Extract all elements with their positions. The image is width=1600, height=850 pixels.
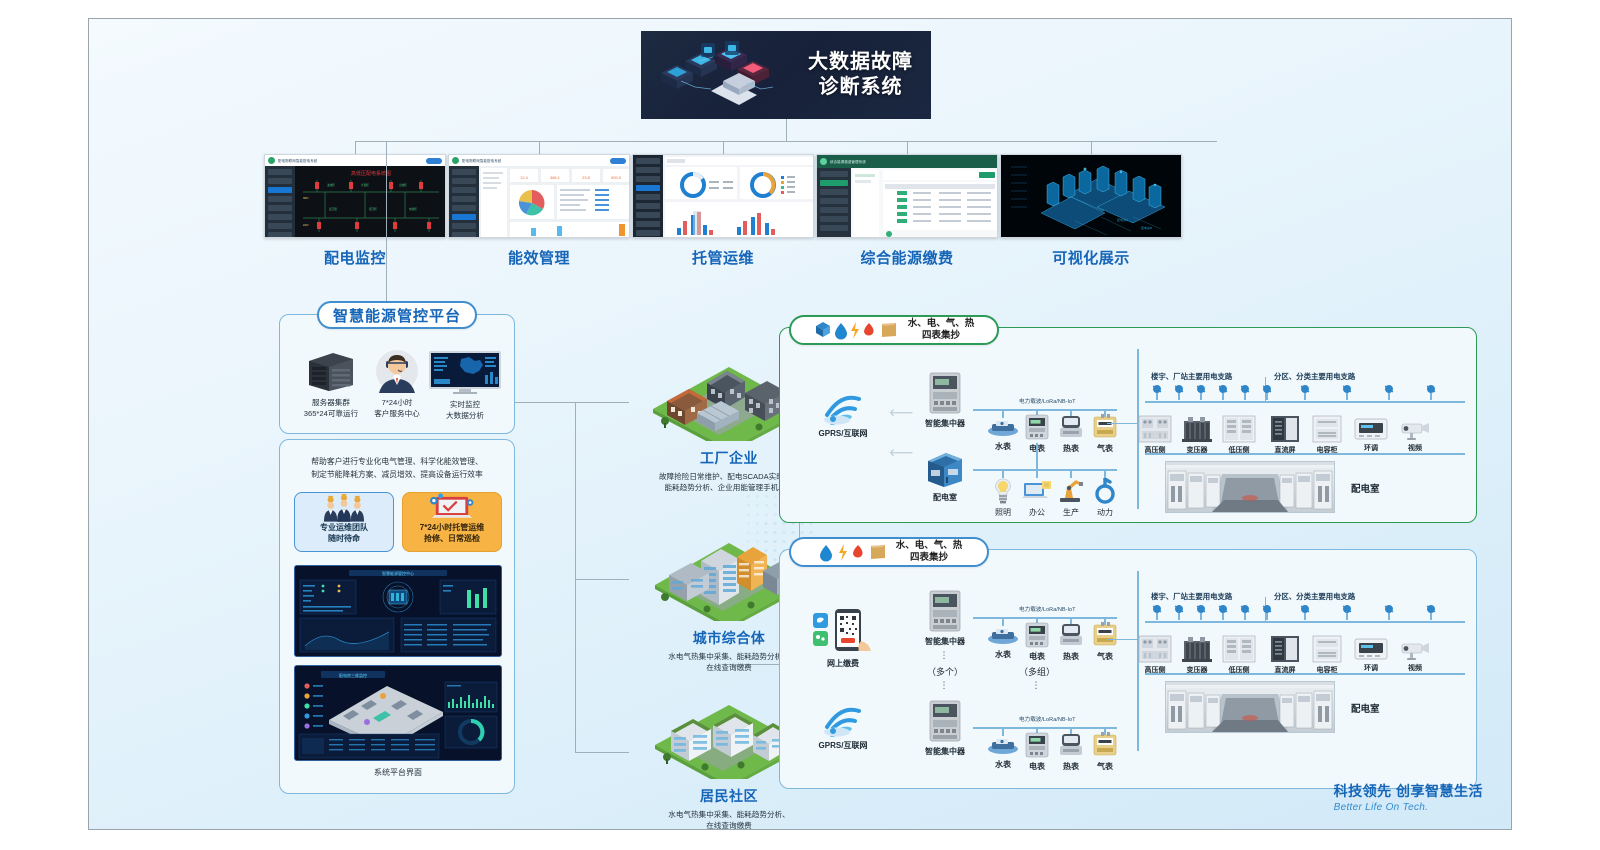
meter-top-concentrator: 智能集中器 (913, 371, 977, 429)
meter-top-equip-dc: 直流屏 (1265, 415, 1305, 455)
meter-top-concentrator-label: 智能集中器 (913, 418, 977, 429)
svg-text:386.1: 386.1 (550, 175, 561, 180)
meter-header-icons-bottom (816, 542, 890, 562)
flame-icon (864, 323, 874, 335)
platform-item-monitor-caption: 实时监控大数据分析 (419, 400, 511, 421)
connector-thumb-4 (907, 141, 908, 154)
meter-bottom-equip-transformer-label: 变压器 (1177, 665, 1217, 675)
meter-bottom-source: GPRS/互联网 (801, 697, 885, 751)
screenshot-nengxiao-guanli[interactable]: 配电物联网智能配电系统 12.4 386.1 (448, 154, 630, 238)
power-icon (1094, 478, 1116, 504)
scene-branch-city (575, 579, 629, 580)
meter-bottom-concentrator-bottom: 智能集中器 (913, 699, 977, 757)
thumb-header-title: 配电物联网智能配电系统 (278, 158, 318, 163)
connector-banner-down (786, 119, 787, 141)
thumb-sidebar (449, 166, 479, 237)
transformer-icon (1180, 635, 1214, 663)
meter-top-equip-transformer-label: 变压器 (1177, 445, 1217, 455)
meter-bottom-equip-capacitor: 电容柜 (1307, 635, 1347, 675)
thumbnail-block-5[interactable]: 配电房A 配电房B 可视化展示 (1000, 154, 1182, 268)
meter-bottom-u-gas: 气表 (1084, 622, 1126, 662)
thumbnail-block-3[interactable]: 托管运维 (632, 154, 814, 268)
meter-top-equip-capacitor: 电容柜 (1307, 415, 1347, 455)
thumb-topbar: 综合能源缴费管理系统 (817, 155, 997, 168)
meter-bottom-bus-label-lower: 电力载波/LoRa/NB-IoT (1019, 715, 1076, 723)
meter-top-load-drop-1 (1002, 469, 1004, 478)
scene-spine-from-panel (515, 402, 575, 403)
service-desc-line2: 制定节能降耗方案、减员增效、提高设备运行效率 (285, 469, 509, 482)
svg-text:220V: 220V (303, 224, 309, 227)
thumbnail-label-1: 配电监控 (264, 247, 446, 268)
connector-thumb-3 (723, 141, 724, 154)
thumb-sidebar (265, 166, 295, 237)
meter-bottom-bus-label-upper: 电力载波/LoRa/NB-IoT (1019, 605, 1076, 613)
building-icon (816, 322, 830, 337)
mobile-payment-icon (811, 607, 875, 655)
meter-bottom-equip-camera: 视频 (1395, 639, 1435, 673)
electric-meter-icon (1024, 732, 1050, 758)
connector-thumb-5 (1091, 141, 1092, 154)
meter-top-meter-gas: 气表 (1084, 414, 1126, 454)
meter-top-meter-gas-label: 气表 (1084, 443, 1126, 454)
meter-top-source: GPRS/互联网 (801, 385, 885, 439)
svg-text:变压器: 变压器 (329, 207, 337, 211)
meter-bottom-breaker-row (1145, 601, 1465, 623)
scene-branch-community (575, 752, 629, 753)
scene-community-title: 居民社区 (641, 786, 817, 806)
gas-meter-icon (1092, 732, 1118, 758)
team-icon (316, 493, 372, 522)
svg-text:智慧能源管控中心: 智慧能源管控中心 (382, 570, 414, 576)
meter-top-equip-camera-label: 视频 (1395, 443, 1435, 453)
thumb-logo-icon (268, 157, 275, 164)
thumb-logo-icon (452, 157, 459, 164)
scene-community-desc: 水电气热集中采集、能耗趋势分析、在线查询缴费 (641, 809, 817, 830)
svg-text:配电房三维监控: 配电房三维监控 (339, 672, 367, 678)
arrow-concentrator-to-source: ⟵ (889, 404, 913, 421)
scene-spine-vertical (575, 402, 576, 752)
thumb-topbar-right (610, 158, 626, 164)
heat-meter-icon (1058, 732, 1084, 758)
meter-bottom-bus-lower (973, 727, 1117, 729)
thumb-content-ops-dashboard (663, 155, 813, 237)
screenshot-keshihua-zhanshi[interactable]: 配电房A 配电房B (1000, 154, 1182, 238)
meter-bottom-equip-lv-label: 低压侧 (1219, 665, 1259, 675)
monitor-screen-icon (427, 349, 503, 395)
production-icon (1058, 478, 1084, 504)
hv-cabinet-icon (1138, 415, 1172, 443)
electric-bolt-icon (851, 322, 859, 339)
banner-title: 大数据故障 诊断系统 (808, 50, 913, 100)
meter-bottom-bus-upper (973, 617, 1117, 619)
meter-bottom-equip-capacitor-label: 电容柜 (1307, 665, 1347, 675)
heat-meter-icon (1058, 622, 1084, 648)
meter-panel-top-title: 水、电、气、热四表集抄 (908, 318, 975, 342)
platform-screenshot-1[interactable]: 智慧能源管控中心 (294, 565, 502, 657)
svg-text:高低压配电系统图: 高低压配电系统图 (351, 170, 391, 177)
heat-icon (871, 545, 885, 559)
meter-bottom-multi-left: （多个） (911, 665, 979, 678)
meter-bottom-room-photo (1165, 681, 1335, 733)
lv-cabinet-icon (1222, 415, 1256, 443)
meter-top-load-power: 动力 (1084, 478, 1126, 518)
transformer-icon (1180, 415, 1214, 443)
platform-screens-caption: 系统平台界面 (294, 767, 502, 778)
meter-top-substation: 配电室 (913, 451, 977, 503)
meter-top-equip-hv: 高压侧 (1135, 415, 1175, 455)
heat-icon (882, 323, 896, 337)
gas-meter-icon (1092, 622, 1118, 648)
meter-bottom-pay: 网上缴费 (801, 607, 885, 669)
meter-bottom-equip-hvac: 环调 (1351, 637, 1391, 673)
thumbnail-block-1[interactable]: 配电物联网智能配电系统 高低压配电系统图 (264, 154, 446, 268)
thumb-header-title: 配电物联网智能配电系统 (462, 158, 502, 163)
lv-cabinet-icon (1222, 635, 1256, 663)
platform-item-monitor: 实时监控大数据分析 (419, 349, 511, 421)
meter-bottom-source-label: GPRS/互联网 (801, 740, 885, 751)
meter-bottom-equip-transformer: 变压器 (1177, 635, 1217, 675)
meter-top-equip-dc-label: 直流屏 (1265, 445, 1305, 455)
meter-bottom-drop-l1 (1002, 727, 1004, 736)
meter-top-equip-camera: 视频 (1395, 419, 1435, 453)
dc-panel-icon (1270, 415, 1300, 443)
service-desc-line1: 帮助客户进行专业化电气管理、科学化能效管理、 (285, 456, 509, 469)
big-data-servers-illustration (655, 41, 805, 109)
water-meter-icon (986, 418, 1020, 438)
meter-top-bus-meters (973, 409, 1117, 411)
smart-concentrator-icon (928, 371, 962, 415)
electric-bolt-icon (839, 544, 847, 561)
svg-text:23.8: 23.8 (582, 175, 591, 180)
lighting-icon (993, 478, 1013, 504)
meter-panel-top-header: 水、电、气、热四表集抄 (789, 315, 999, 345)
service-badge-team[interactable]: 专业运维团队随时待命 (294, 492, 394, 552)
laptop-repair-icon (423, 493, 481, 522)
meter-top-equip-hvac-label: 环调 (1351, 443, 1391, 453)
meter-bottom-dots-left-2: ⋮ (929, 681, 961, 689)
meter-bottom-concentrator-top-label: 智能集中器 (913, 636, 977, 647)
heat-meter-icon (1058, 414, 1084, 440)
meter-top-load-drop-2 (1036, 469, 1038, 478)
electric-meter-icon (1024, 414, 1050, 440)
meter-bottom-l-gas-label: 气表 (1084, 761, 1126, 772)
meter-top-equip-capacitor-label: 电容柜 (1307, 445, 1347, 455)
meter-top-drop-1 (1002, 409, 1004, 418)
hv-cabinet-icon (1138, 635, 1172, 663)
wifi-signal-icon (815, 697, 871, 737)
thumbnail-label-2: 能效管理 (448, 247, 630, 268)
svg-text:低压柜: 低压柜 (369, 207, 377, 211)
gas-meter-icon (1092, 414, 1118, 440)
svg-text:配电房B: 配电房B (1141, 225, 1152, 230)
meter-top-breaker-row (1145, 381, 1465, 403)
meter-bottom-u-gas-label: 气表 (1084, 651, 1126, 662)
meter-panel-bottom-title: 水、电、气、热四表集抄 (896, 540, 963, 564)
svg-text:计量柜: 计量柜 (361, 183, 369, 187)
banner-title-line1: 大数据故障 (808, 50, 913, 75)
svg-text:进线柜: 进线柜 (327, 183, 335, 187)
thumbnail-label-3: 托管运维 (632, 247, 814, 268)
thumb-sidebar (633, 155, 663, 237)
meter-panel-bottom-header: 水、电、气、热四表集抄 (789, 537, 989, 567)
connector-banner-to-platform (386, 141, 387, 301)
arrow-substation-to-source: ⟵ (889, 444, 913, 461)
thumb-content-single-line-diagram: 高低压配电系统图 (295, 166, 445, 237)
water-drop-icon (835, 323, 847, 340)
capacitor-cabinet-icon (1312, 635, 1342, 663)
platform-title: 智慧能源管控平台 (333, 305, 461, 326)
meter-bottom-dots-right-2: ⋮ (1021, 681, 1053, 689)
wifi-signal-icon (815, 385, 871, 425)
meter-top-equip-transformer: 变压器 (1177, 415, 1217, 455)
water-meter-icon (986, 626, 1020, 646)
thumb-logo-icon (820, 158, 827, 165)
meter-top-equip-lv: 低压侧 (1219, 415, 1259, 455)
meter-top-equip-lv-label: 低压侧 (1219, 445, 1259, 455)
scene-branch-factory (575, 402, 629, 403)
meter-bottom-concentrator-top: 智能集中器 (913, 589, 977, 647)
thumb-topbar-right (426, 158, 442, 164)
office-icon (1022, 480, 1052, 504)
thumb-topbar: 配电物联网智能配电系统 (449, 155, 629, 166)
capacitor-cabinet-icon (1312, 415, 1342, 443)
platform-screenshot-2[interactable]: 配电房三维监控 (294, 665, 502, 761)
meter-bottom-equip-hv-label: 高压侧 (1135, 665, 1175, 675)
meter-bottom-drop-u1 (1002, 617, 1004, 626)
tagline-en: Better Life On Tech. (1334, 802, 1483, 813)
meter-bottom-l-gas: 气表 (1084, 732, 1126, 772)
meter-top-load-power-label: 动力 (1084, 507, 1126, 518)
camera-icon (1398, 639, 1432, 661)
distribution-cabinet-icon (922, 451, 968, 489)
svg-text:配电房A: 配电房A (1117, 217, 1128, 222)
meter-bottom-equip-camera-label: 视频 (1395, 663, 1435, 673)
water-drop-icon (820, 545, 832, 562)
meter-bottom-equip-hvac-label: 环调 (1351, 663, 1391, 673)
meter-top-room-photo (1165, 461, 1335, 513)
service-badge-team-caption: 专业运维团队随时待命 (320, 522, 368, 544)
dc-panel-icon (1270, 635, 1300, 663)
meter-bottom-equip-lv: 低压侧 (1219, 635, 1259, 675)
screenshot-tuoguan-yunwei[interactable] (632, 154, 814, 238)
banner-title-line2: 诊断系统 (808, 75, 913, 100)
tagline-cn: 科技领先 创享智慧生活 (1334, 781, 1483, 801)
meter-bottom-equip-dc: 直流屏 (1265, 635, 1305, 675)
meter-top-photo-caption: 配电室 (1351, 481, 1380, 495)
meter-top-load-drop-4 (1104, 469, 1106, 478)
poster-canvas: 大数据故障 诊断系统 配电物联网智能配电系统 高低压配电系统图 (88, 18, 1512, 830)
electric-meter-icon (1024, 622, 1050, 648)
meter-top-loads-riser (1036, 443, 1038, 469)
svg-text:出线柜: 出线柜 (399, 183, 407, 187)
meter-bottom-concentrator-bottom-label: 智能集中器 (913, 746, 977, 757)
thumb-sidebar (817, 168, 851, 237)
thumbnail-block-4[interactable]: 综合能源缴费管理系统 (816, 154, 998, 268)
meter-top-equip-hvac: 环调 (1351, 417, 1391, 453)
screenshot-peidian-jiankong[interactable]: 配电物联网智能配电系统 高低压配电系统图 (264, 154, 446, 238)
thumbnail-label-4: 综合能源缴费 (816, 247, 998, 268)
service-badge-ops[interactable]: 7*24小时托管运维抢修、日常巡检 (402, 492, 502, 552)
flame-icon (853, 545, 863, 557)
tagline: 科技领先 创享智慧生活 Better Life On Tech. (1334, 781, 1483, 813)
meter-bottom-equip-dc-label: 直流屏 (1265, 665, 1305, 675)
meter-header-icons-top (814, 320, 902, 340)
meter-bottom-equip-hv: 高压侧 (1135, 635, 1175, 675)
smart-concentrator-icon (928, 589, 962, 633)
meter-top-equip-hv-label: 高压侧 (1135, 445, 1175, 455)
screenshot-zonghe-nengyuan-jiaofei[interactable]: 综合能源缴费管理系统 (816, 154, 998, 238)
smart-concentrator-icon (928, 699, 962, 743)
svg-text:380V: 380V (303, 197, 309, 200)
service-description: 帮助客户进行专业化电气管理、科学化能效管理、 制定节能降耗方案、减员增效、提高设… (285, 456, 509, 482)
meter-top-substation-label: 配电室 (913, 492, 977, 503)
thumb-content-3d-visualization: 配电房A 配电房B (1001, 155, 1182, 238)
thumb-content-billing-table (851, 168, 997, 237)
support-agent-icon (373, 349, 421, 393)
connector-thumb-1 (355, 141, 356, 154)
meter-bottom-photo-caption: 配电室 (1351, 701, 1380, 715)
hvac-controller-icon (1354, 417, 1388, 441)
meter-bottom-dots-left-1: ⋮ (929, 651, 961, 659)
hvac-controller-icon (1354, 637, 1388, 661)
platform-panel-header: 智慧能源管控平台 (317, 301, 477, 329)
water-meter-icon (986, 736, 1020, 756)
svg-text:12.4: 12.4 (520, 175, 529, 180)
meter-top-load-drop-3 (1070, 469, 1072, 478)
svg-text:909.0: 909.0 (611, 175, 622, 180)
camera-icon (1398, 419, 1432, 441)
connector-thumb-2 (539, 141, 540, 154)
meter-bottom-multi-right: （多组） (1003, 665, 1071, 678)
meter-top-bus-label: 电力载波/LoRa/NB-IoT (1019, 397, 1076, 405)
meter-top-source-label: GPRS/互联网 (801, 428, 885, 439)
thumb-topbar: 配电物联网智能配电系统 (265, 155, 445, 166)
service-badge-ops-caption: 7*24小时托管运维抢修、日常巡检 (420, 522, 484, 544)
connector-thumbs-bus (355, 141, 1217, 142)
main-title-banner: 大数据故障 诊断系统 (641, 31, 931, 119)
thumb-header-title: 综合能源缴费管理系统 (830, 159, 866, 164)
meter-bottom-pay-label: 网上缴费 (801, 658, 885, 669)
thumbnail-block-2[interactable]: 配电物联网智能配电系统 12.4 386.1 (448, 154, 630, 268)
meter-top-bus-loads (973, 469, 1117, 471)
svg-text:电容柜: 电容柜 (409, 207, 417, 211)
thumb-content-energy-dashboard: 12.4 386.1 23.8 909.0 (479, 166, 629, 237)
thumbnail-label-5: 可视化展示 (1000, 247, 1182, 268)
